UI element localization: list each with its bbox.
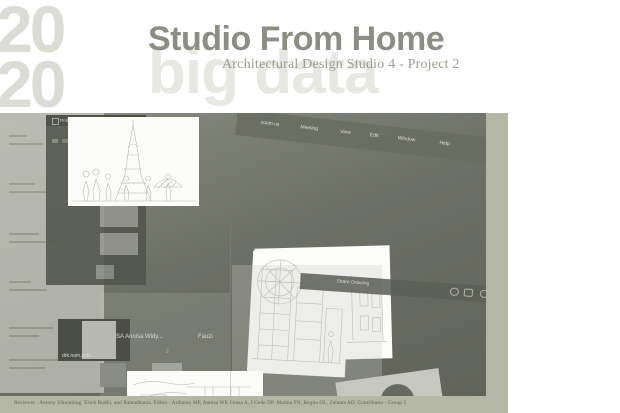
eiffel-tower-plaza-sketch <box>68 117 199 206</box>
video-tile-caption: drk.nam.pptx <box>62 353 91 359</box>
sage-side-strip <box>486 113 508 413</box>
divider <box>230 226 231 413</box>
folder-icon <box>52 118 59 125</box>
page-title: Studio From Home <box>148 20 444 59</box>
poster-canvas: 20 20 big data Studio From Home Architec… <box>0 0 620 413</box>
screen-share-icon[interactable] <box>464 288 474 297</box>
year-line-bottom: 20 <box>0 57 126 112</box>
participant-name-fauzi: Fauzi <box>198 334 213 340</box>
menu-item-meeting[interactable]: Meeting <box>300 124 318 132</box>
menu-item-window[interactable]: Window <box>397 135 415 143</box>
menu-item-view[interactable]: View <box>340 129 351 136</box>
screenshot-collage: Prof_24 Des zoom.us Meeting View Edit Wi… <box>0 113 508 413</box>
toolbar-title: Share Drawing <box>336 279 369 287</box>
year-numerals: 20 20 <box>0 2 126 114</box>
menu-item-edit[interactable]: Edit <box>370 132 379 139</box>
chat-icon[interactable] <box>450 287 460 296</box>
menu-item-help[interactable]: Help <box>439 140 450 147</box>
video-tile-small[interactable] <box>100 363 126 387</box>
menu-item-zoom-us[interactable]: zoom.us <box>260 120 279 128</box>
credits-text: Reviewer : Antony Sihombing, Erick Budhi… <box>14 400 504 406</box>
page-indicator: 2 <box>166 349 169 355</box>
page-subtitle: Architectural Design Studio 4 - Project … <box>222 57 460 73</box>
thumbnail-icon <box>96 265 114 279</box>
participant-name-annisa: SA Annisa Widy... <box>116 334 163 340</box>
